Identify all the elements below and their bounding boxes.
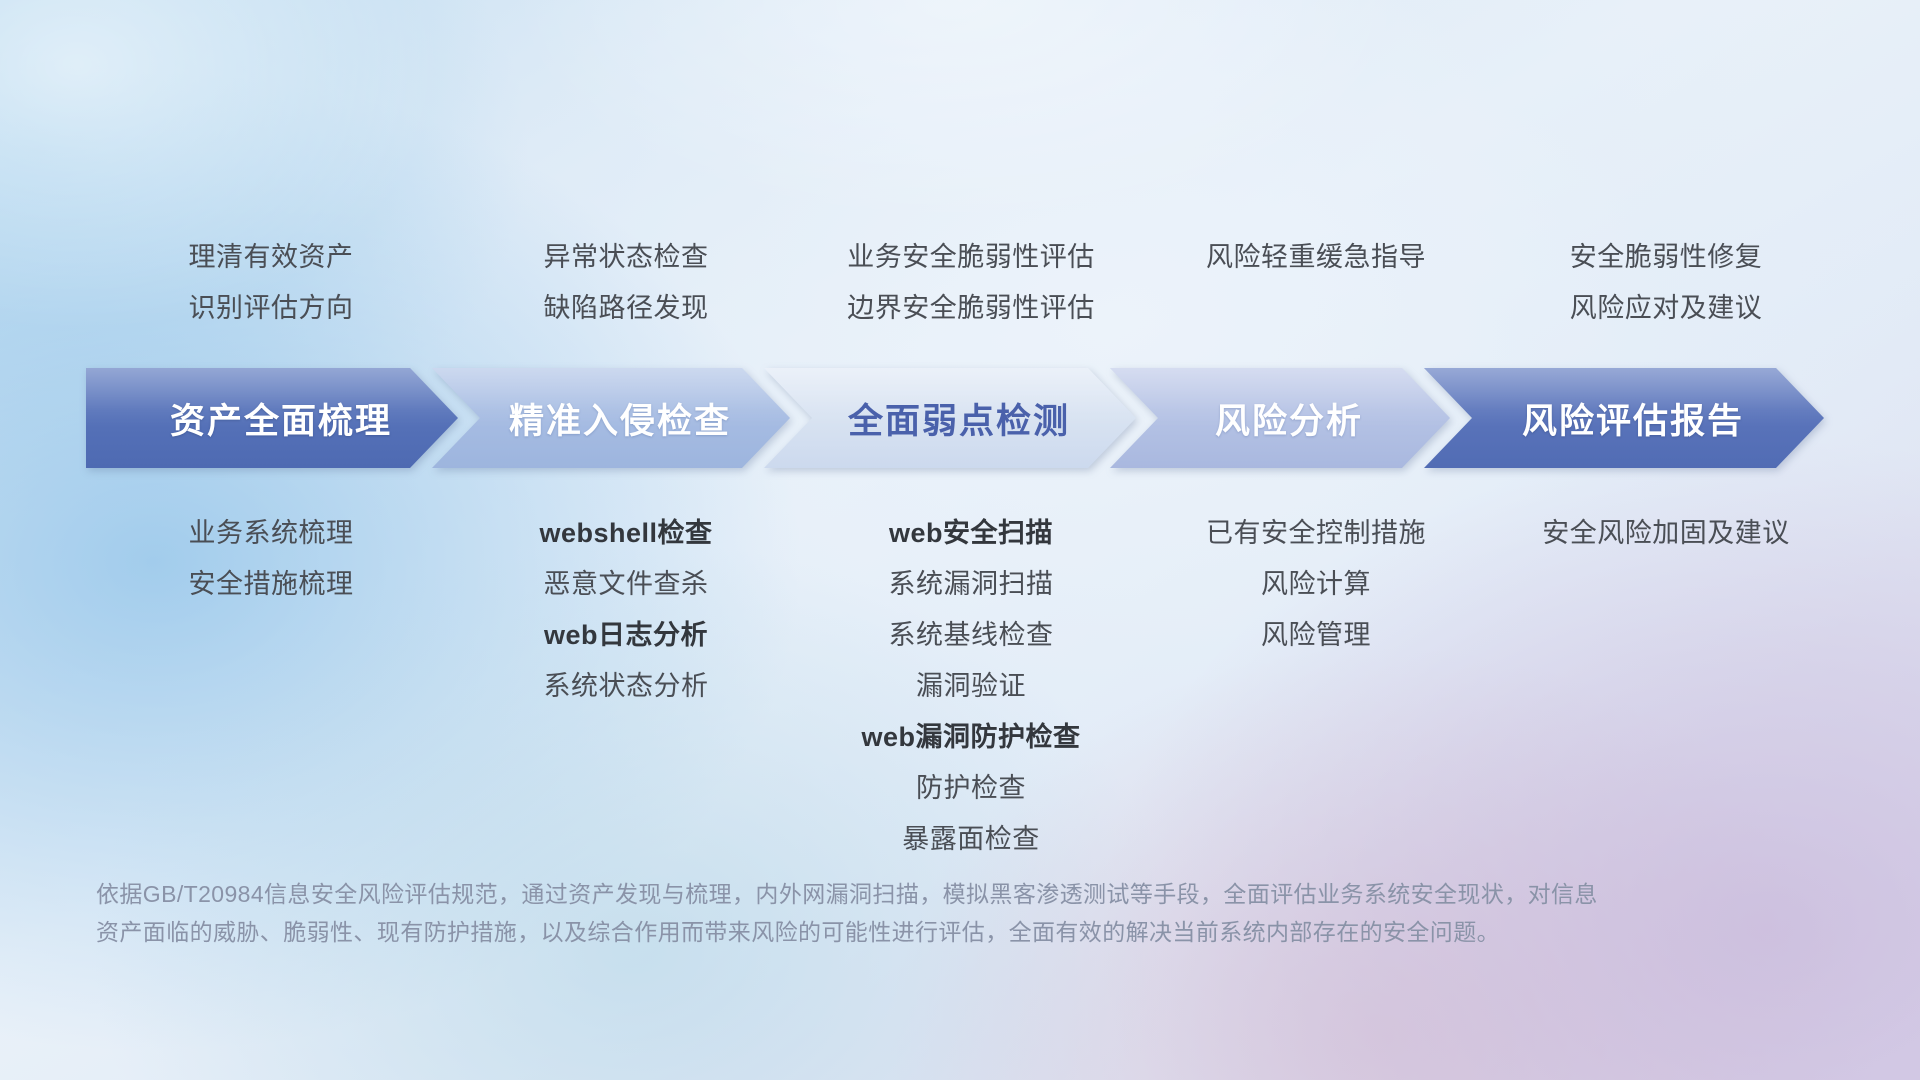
stage-title: 全面弱点检测 bbox=[830, 393, 1070, 444]
top-item: 缺陷路径发现 bbox=[456, 283, 796, 334]
footnote-line: 资产面临的威胁、脆弱性、现有防护措施，以及综合作用而带来风险的可能性进行评估，全… bbox=[96, 913, 1716, 951]
detail-item: 暴露面检查 bbox=[796, 814, 1146, 865]
detail-item: 系统基线检查 bbox=[796, 610, 1146, 661]
detail-item: 业务系统梳理 bbox=[86, 508, 456, 559]
detail-item: 系统状态分析 bbox=[456, 661, 796, 712]
detail-item: 风险管理 bbox=[1146, 610, 1486, 661]
detail-item: webshell检查 bbox=[456, 508, 796, 559]
top-descriptors-row: 理清有效资产 识别评估方向 异常状态检查 缺陷路径发现 业务安全脆弱性评估 边界… bbox=[86, 232, 1846, 334]
bottom-details-intrusion-check: webshell检查 恶意文件查杀 web日志分析 系统状态分析 bbox=[456, 508, 796, 712]
stage-title: 风险分析 bbox=[1197, 393, 1363, 444]
top-descriptors-risk-report: 安全脆弱性修复 风险应对及建议 bbox=[1486, 232, 1846, 334]
detail-item: 风险计算 bbox=[1146, 559, 1486, 610]
top-descriptors-asset-inventory: 理清有效资产 识别评估方向 bbox=[86, 232, 456, 334]
top-item: 风险轻重缓急指导 bbox=[1146, 232, 1486, 283]
stage-chevron-intrusion-check[interactable]: 精准入侵检查 bbox=[432, 368, 790, 468]
footnote: 依据GB/T20984信息安全风险评估规范，通过资产发现与梳理，内外网漏洞扫描，… bbox=[96, 875, 1716, 951]
top-item: 风险应对及建议 bbox=[1486, 283, 1846, 334]
top-descriptors-weakness-detection: 业务安全脆弱性评估 边界安全脆弱性评估 bbox=[796, 232, 1146, 334]
top-item: 异常状态检查 bbox=[456, 232, 796, 283]
detail-item: web日志分析 bbox=[456, 610, 796, 661]
stage-chevron-asset-inventory[interactable]: 资产全面梳理 bbox=[86, 368, 458, 468]
bottom-details-risk-analysis: 已有安全控制措施 风险计算 风险管理 bbox=[1146, 508, 1486, 661]
stage-title: 资产全面梳理 bbox=[152, 393, 392, 444]
detail-item: 安全措施梳理 bbox=[86, 559, 456, 610]
slide-content: 理清有效资产 识别评估方向 异常状态检查 缺陷路径发现 业务安全脆弱性评估 边界… bbox=[0, 0, 1920, 1080]
bottom-details-asset-inventory: 业务系统梳理 安全措施梳理 bbox=[86, 508, 456, 610]
process-chevron-band: 资产全面梳理 精准入侵检查 全面弱点检测 风险分析 风险评估报告 bbox=[86, 368, 1854, 468]
top-item: 安全脆弱性修复 bbox=[1486, 232, 1846, 283]
detail-item: 已有安全控制措施 bbox=[1146, 508, 1486, 559]
stage-title: 精准入侵检查 bbox=[491, 393, 731, 444]
bottom-details-row: 业务系统梳理 安全措施梳理 webshell检查 恶意文件查杀 web日志分析 … bbox=[86, 508, 1846, 865]
top-descriptors-risk-analysis: 风险轻重缓急指导 bbox=[1146, 232, 1486, 334]
detail-item: 防护检查 bbox=[796, 763, 1146, 814]
stage-chevron-risk-report[interactable]: 风险评估报告 bbox=[1424, 368, 1824, 468]
slide-canvas: 理清有效资产 识别评估方向 异常状态检查 缺陷路径发现 业务安全脆弱性评估 边界… bbox=[0, 0, 1920, 1080]
top-item: 业务安全脆弱性评估 bbox=[796, 232, 1146, 283]
stage-title: 风险评估报告 bbox=[1504, 393, 1744, 444]
detail-item: web安全扫描 bbox=[796, 508, 1146, 559]
top-item: 理清有效资产 bbox=[86, 232, 456, 283]
detail-item: web漏洞防护检查 bbox=[796, 712, 1146, 763]
footnote-line: 依据GB/T20984信息安全风险评估规范，通过资产发现与梳理，内外网漏洞扫描，… bbox=[96, 875, 1716, 913]
bottom-details-risk-report: 安全风险加固及建议 bbox=[1486, 508, 1846, 559]
detail-item: 恶意文件查杀 bbox=[456, 559, 796, 610]
top-descriptors-intrusion-check: 异常状态检查 缺陷路径发现 bbox=[456, 232, 796, 334]
detail-item: 漏洞验证 bbox=[796, 661, 1146, 712]
detail-item: 安全风险加固及建议 bbox=[1486, 508, 1846, 559]
top-item: 边界安全脆弱性评估 bbox=[796, 283, 1146, 334]
top-item: 识别评估方向 bbox=[86, 283, 456, 334]
stage-chevron-weakness-detection[interactable]: 全面弱点检测 bbox=[764, 368, 1136, 468]
stage-chevron-risk-analysis[interactable]: 风险分析 bbox=[1110, 368, 1450, 468]
bottom-details-weakness-detection: web安全扫描 系统漏洞扫描 系统基线检查 漏洞验证 web漏洞防护检查 防护检… bbox=[796, 508, 1146, 865]
detail-item: 系统漏洞扫描 bbox=[796, 559, 1146, 610]
